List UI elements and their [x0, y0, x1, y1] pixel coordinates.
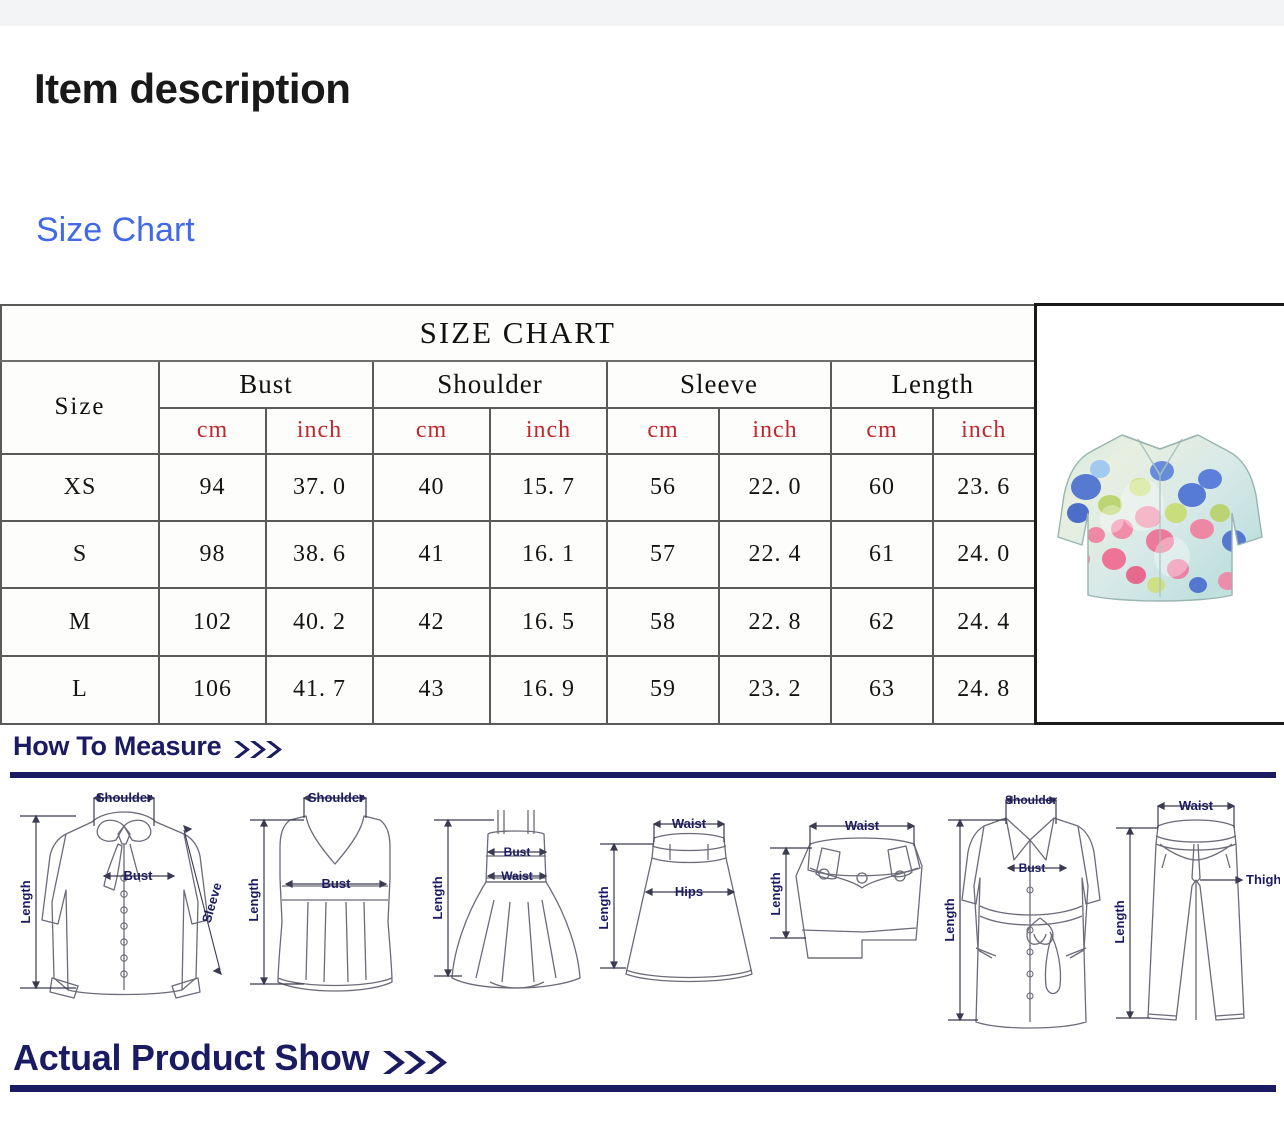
cell-length-inch: 24. 4: [933, 588, 1035, 655]
unit-sleeve-cm: cm: [607, 408, 719, 453]
cell-bust-cm: 106: [159, 656, 266, 724]
item-description-page: Item description Size Chart SIZE CHART: [0, 0, 1284, 1146]
label-shoulder: Shoulder: [308, 790, 364, 805]
col-header-bust: Bust: [159, 361, 373, 408]
size-chart-table: SIZE CHART: [0, 303, 1284, 725]
col-header-length: Length: [831, 361, 1035, 408]
product-photo-frame: [1037, 306, 1284, 722]
label-length: Length: [248, 878, 261, 921]
row-size-label: XS: [1, 454, 159, 521]
cell-shoulder-cm: 42: [373, 588, 490, 655]
size-chart-table-container: SIZE CHART: [0, 303, 1284, 725]
label-shoulder: Shoulder: [96, 790, 152, 805]
label-length: Length: [1112, 900, 1127, 943]
label-length: Length: [596, 886, 611, 929]
product-photo-cell: [1035, 305, 1284, 724]
cell-sleeve-cm: 58: [607, 588, 719, 655]
label-thigh: Thigh: [1246, 872, 1280, 887]
label-hips: Hips: [675, 884, 703, 899]
cell-shoulder-inch: 16. 9: [490, 656, 607, 724]
actual-product-show-heading: Actual Product Show: [13, 1037, 450, 1079]
cell-length-cm: 63: [831, 656, 933, 724]
how-to-measure-divider: [10, 772, 1276, 778]
size-chart-link[interactable]: Size Chart: [36, 212, 195, 249]
cell-shoulder-cm: 40: [373, 454, 490, 521]
col-header-shoulder: Shoulder: [373, 361, 607, 408]
unit-sleeve-inch: inch: [719, 408, 831, 453]
label-length: Length: [768, 872, 783, 915]
label-length: Length: [432, 876, 445, 919]
page-title: Item description: [34, 66, 350, 112]
cell-bust-cm: 102: [159, 588, 266, 655]
cell-shoulder-inch: 15. 7: [490, 454, 607, 521]
cell-length-inch: 23. 6: [933, 454, 1035, 521]
row-size-label: M: [1, 588, 159, 655]
col-header-size: Size: [1, 361, 159, 454]
unit-bust-cm: cm: [159, 408, 266, 453]
unit-length-cm: cm: [831, 408, 933, 453]
unit-shoulder-inch: inch: [490, 408, 607, 453]
cell-shoulder-inch: 16. 1: [490, 521, 607, 588]
cell-sleeve-cm: 57: [607, 521, 719, 588]
label-length: Length: [18, 880, 33, 923]
cell-sleeve-inch: 22. 4: [719, 521, 831, 588]
label-waist: Waist: [1179, 798, 1214, 813]
cell-shoulder-cm: 41: [373, 521, 490, 588]
cell-length-cm: 60: [831, 454, 933, 521]
cell-bust-inch: 38. 6: [266, 521, 373, 588]
unit-bust-inch: inch: [266, 408, 373, 453]
cell-bust-cm: 98: [159, 521, 266, 588]
cell-bust-inch: 40. 2: [266, 588, 373, 655]
actual-product-show-divider: [10, 1085, 1276, 1092]
diagram-trousers: Waist Thigh Length: [1112, 782, 1280, 1040]
size-chart-title: SIZE CHART: [1, 305, 1035, 361]
chevron-right-icon: [380, 1047, 450, 1079]
diagram-belted-coat: Shoulder Bust Length: [944, 782, 1114, 1040]
cell-length-inch: 24. 8: [933, 656, 1035, 724]
chevron-right-icon: [232, 738, 284, 762]
cell-shoulder-cm: 43: [373, 656, 490, 724]
diagram-bow-blouse: Shoulder Bust Length Sleeve: [6, 782, 242, 1022]
cell-sleeve-inch: 23. 2: [719, 656, 831, 724]
label-waist: Waist: [672, 816, 707, 831]
diagram-strap-dress: Bust Waist Length: [432, 782, 592, 1022]
label-waist: Waist: [845, 818, 880, 833]
label-bust: Bust: [124, 868, 154, 883]
row-size-label: L: [1, 656, 159, 724]
cell-length-cm: 62: [831, 588, 933, 655]
cell-sleeve-cm: 59: [607, 656, 719, 724]
unit-shoulder-cm: cm: [373, 408, 490, 453]
col-header-sleeve: Sleeve: [607, 361, 831, 408]
label-length: Length: [944, 898, 957, 941]
how-to-measure-heading: How To Measure: [13, 731, 284, 762]
row-size-label: S: [1, 521, 159, 588]
unit-length-inch: inch: [933, 408, 1035, 453]
cell-length-inch: 24. 0: [933, 521, 1035, 588]
cell-bust-inch: 37. 0: [266, 454, 373, 521]
label-shoulder: Shoulder: [1005, 793, 1057, 807]
cell-shoulder-inch: 16. 5: [490, 588, 607, 655]
label-bust: Bust: [504, 845, 531, 859]
cell-bust-cm: 94: [159, 454, 266, 521]
cell-sleeve-inch: 22. 8: [719, 588, 831, 655]
floral-blouse-image: [1052, 409, 1268, 619]
actual-product-show-label: Actual Product Show: [13, 1037, 369, 1079]
cell-bust-inch: 41. 7: [266, 656, 373, 724]
cell-length-cm: 61: [831, 521, 933, 588]
label-bust: Bust: [322, 876, 352, 891]
how-to-measure-label: How To Measure: [13, 731, 221, 762]
cell-sleeve-cm: 56: [607, 454, 719, 521]
top-gray-strip: [0, 0, 1284, 26]
measure-diagrams-row: Shoulder Bust Length Sleeve: [0, 782, 1284, 1034]
table-row-title: SIZE CHART: [1, 305, 1284, 361]
diagram-a-line-skirt: Waist Hips Length: [596, 782, 761, 1022]
diagram-v-neck-cami: Shoulder Bust Length: [248, 782, 423, 1022]
label-waist: Waist: [501, 869, 533, 883]
diagram-shorts: Waist Length: [766, 782, 946, 1022]
label-bust: Bust: [1019, 861, 1046, 875]
cell-sleeve-inch: 22. 0: [719, 454, 831, 521]
